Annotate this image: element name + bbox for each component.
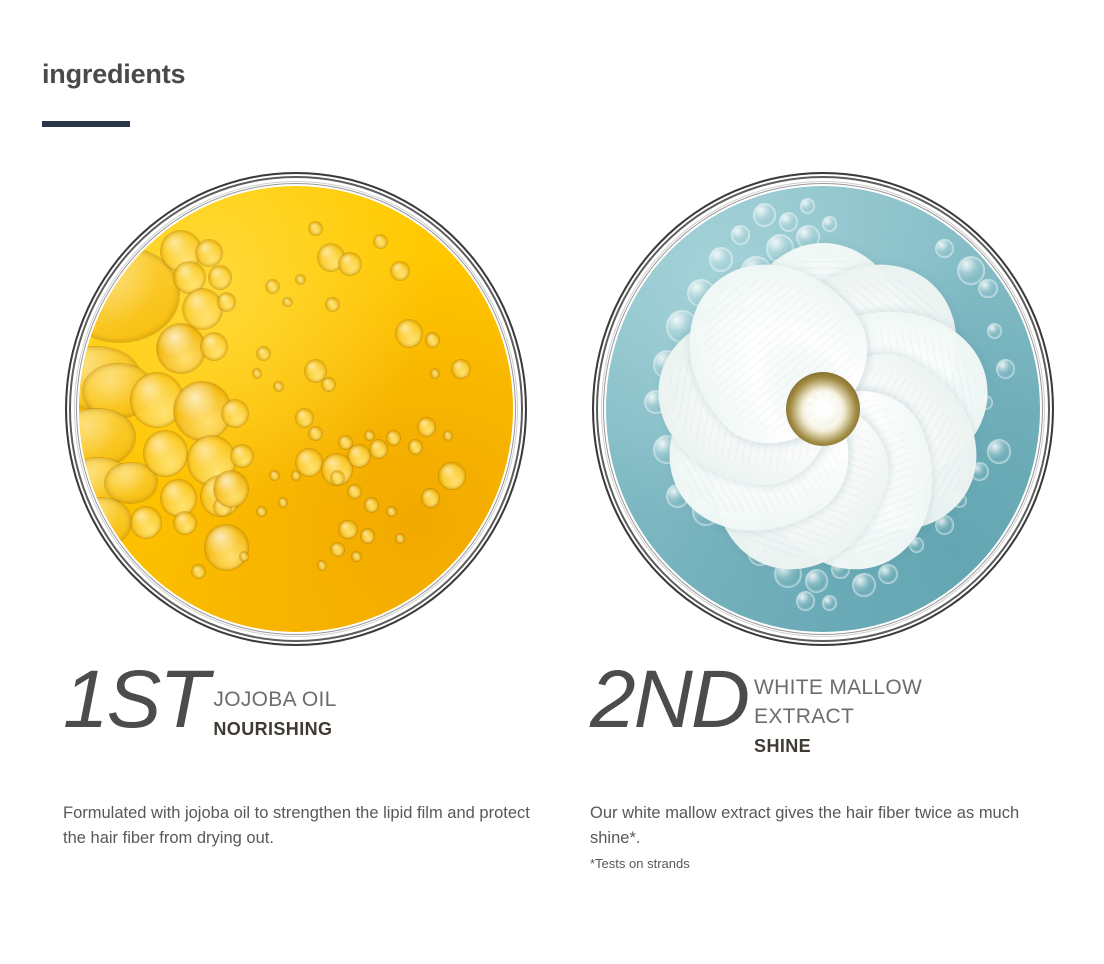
ingredient-benefit: SHINE [754,733,964,759]
dish-body [592,172,1054,646]
ingredient-label-jojoba-oil: 1ST JOJOBA OIL NOURISHING [63,663,337,743]
dish-body [65,172,527,646]
rank-number: 2ND [590,657,748,743]
ingredient-benefit: NOURISHING [213,716,336,742]
oil-liquid-fill [79,186,513,632]
petri-dish-jojoba-oil [65,172,527,646]
white-mallow-flower [658,244,988,574]
ingredient-name: WHITE MALLOW EXTRACT [754,673,964,731]
ingredient-footnote: *Tests on strands [590,855,690,873]
ingredient-card-jojoba-oil: 1ST JOJOBA OIL NOURISHING Formulated wit… [20,0,550,964]
ingredient-card-white-mallow: 2ND WHITE MALLOW EXTRACT SHINE Our white… [547,0,1077,964]
ingredient-label-white-mallow: 2ND WHITE MALLOW EXTRACT SHINE [590,663,964,759]
ingredient-description: Formulated with jojoba oil to strengthen… [63,801,541,851]
teal-liquid-fill [606,186,1040,632]
flower-core [786,372,860,446]
ingredient-description: Our white mallow extract gives the hair … [590,801,1068,851]
ingredient-columns: 1ST JOJOBA OIL NOURISHING Formulated wit… [0,0,1104,964]
petri-dish-white-mallow [592,172,1054,646]
ingredient-name: JOJOBA OIL [213,685,336,714]
rank-number: 1ST [63,657,207,743]
